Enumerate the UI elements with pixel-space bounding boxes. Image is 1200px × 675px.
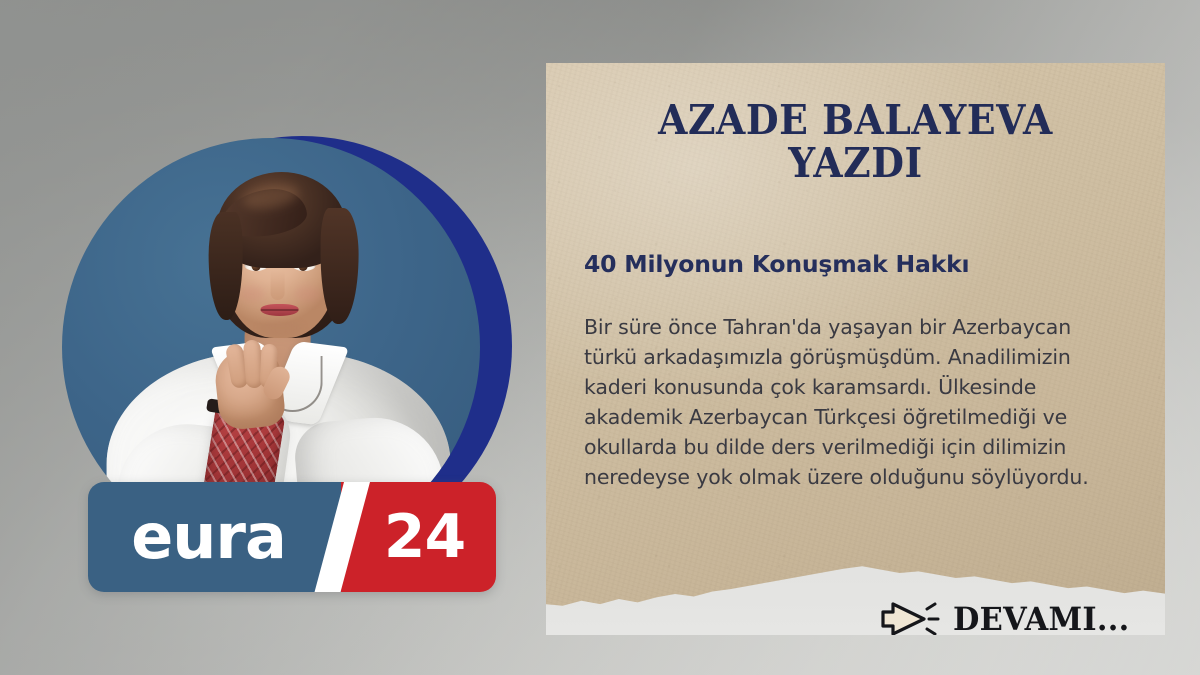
- nose: [271, 270, 285, 300]
- portrait-block: eura 24: [0, 0, 540, 675]
- page-title: AZADE BALAYEVA YAZDI: [606, 99, 1106, 184]
- banner-stage: eura 24 AZADE BALAYEVA YAZDI 40 Milyonun…: [0, 0, 1200, 675]
- article-subtitle: 40 Milyonun Konuşmak Hakkı: [584, 250, 1127, 278]
- lip-line: [261, 309, 299, 311]
- read-more-link[interactable]: DEVAMI...: [880, 599, 1139, 635]
- chin-shadow: [259, 320, 303, 336]
- hair-side-right: [321, 208, 359, 324]
- article-body-text: Bir süre önce Tahran'da yaşayan bir Azer…: [584, 312, 1127, 492]
- logo-number: 24: [384, 507, 466, 567]
- logo-wordmark: eura: [131, 506, 286, 568]
- paper-content: AZADE BALAYEVA YAZDI 40 Milyonun Konuşma…: [546, 63, 1165, 492]
- article-paper-card: AZADE BALAYEVA YAZDI 40 Milyonun Konuşma…: [546, 63, 1165, 635]
- eura24-logo[interactable]: eura 24: [88, 482, 496, 592]
- hair-side-left: [209, 212, 243, 320]
- cheek-left: [239, 286, 265, 302]
- logo-left-panel: eura: [88, 482, 341, 592]
- cheek-right: [295, 286, 321, 302]
- arrow-right-pointer-icon: [880, 599, 940, 635]
- read-more-label: DEVAMI...: [953, 600, 1130, 635]
